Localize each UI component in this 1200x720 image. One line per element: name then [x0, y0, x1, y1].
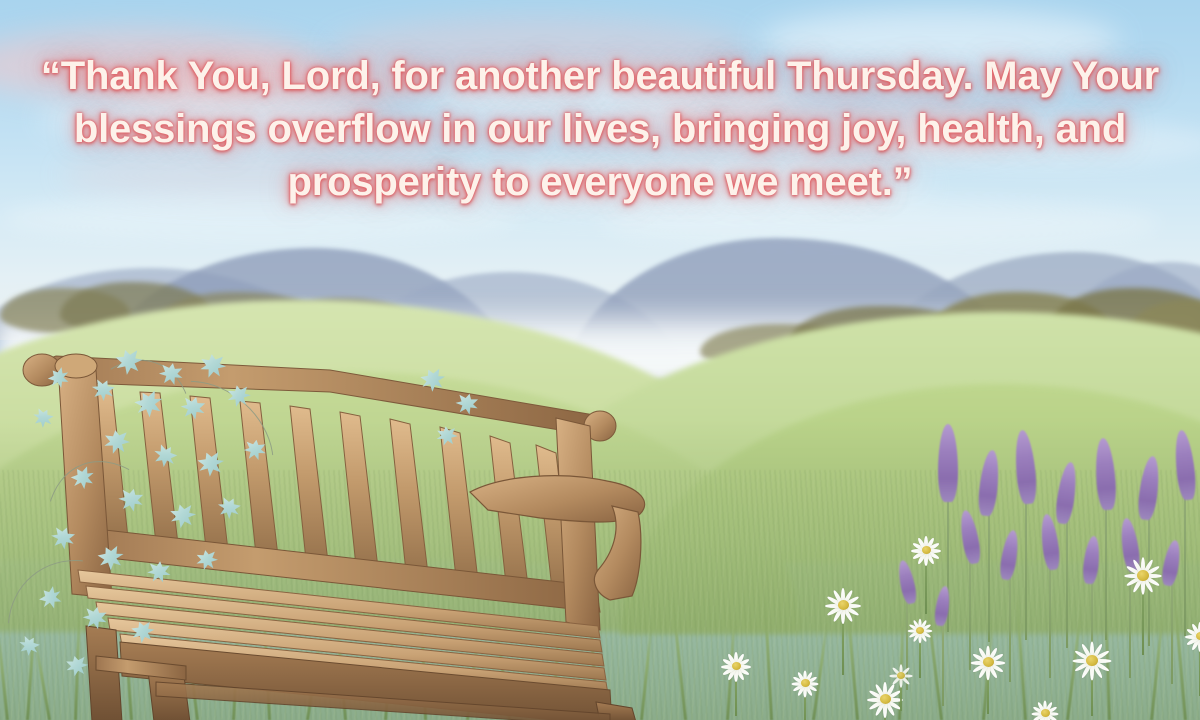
- daisy: [884, 658, 918, 692]
- daisy: [966, 640, 1010, 684]
- daisy: [1180, 616, 1200, 656]
- quote-overlay: “Thank You, Lord, for another beautiful …: [0, 0, 1200, 230]
- daisy: [1026, 694, 1064, 720]
- daisy: [822, 584, 864, 626]
- daisy: [786, 664, 824, 702]
- quote-image-canvas: “Thank You, Lord, for another beautiful …: [0, 0, 1200, 720]
- ivy-vine: [30, 348, 510, 720]
- daisy: [904, 528, 948, 572]
- daisy: [902, 612, 938, 648]
- daisy: [716, 646, 756, 686]
- daisy: [1118, 550, 1168, 600]
- daisy: [1068, 636, 1116, 684]
- quote-text: “Thank You, Lord, for another beautiful …: [25, 50, 1175, 210]
